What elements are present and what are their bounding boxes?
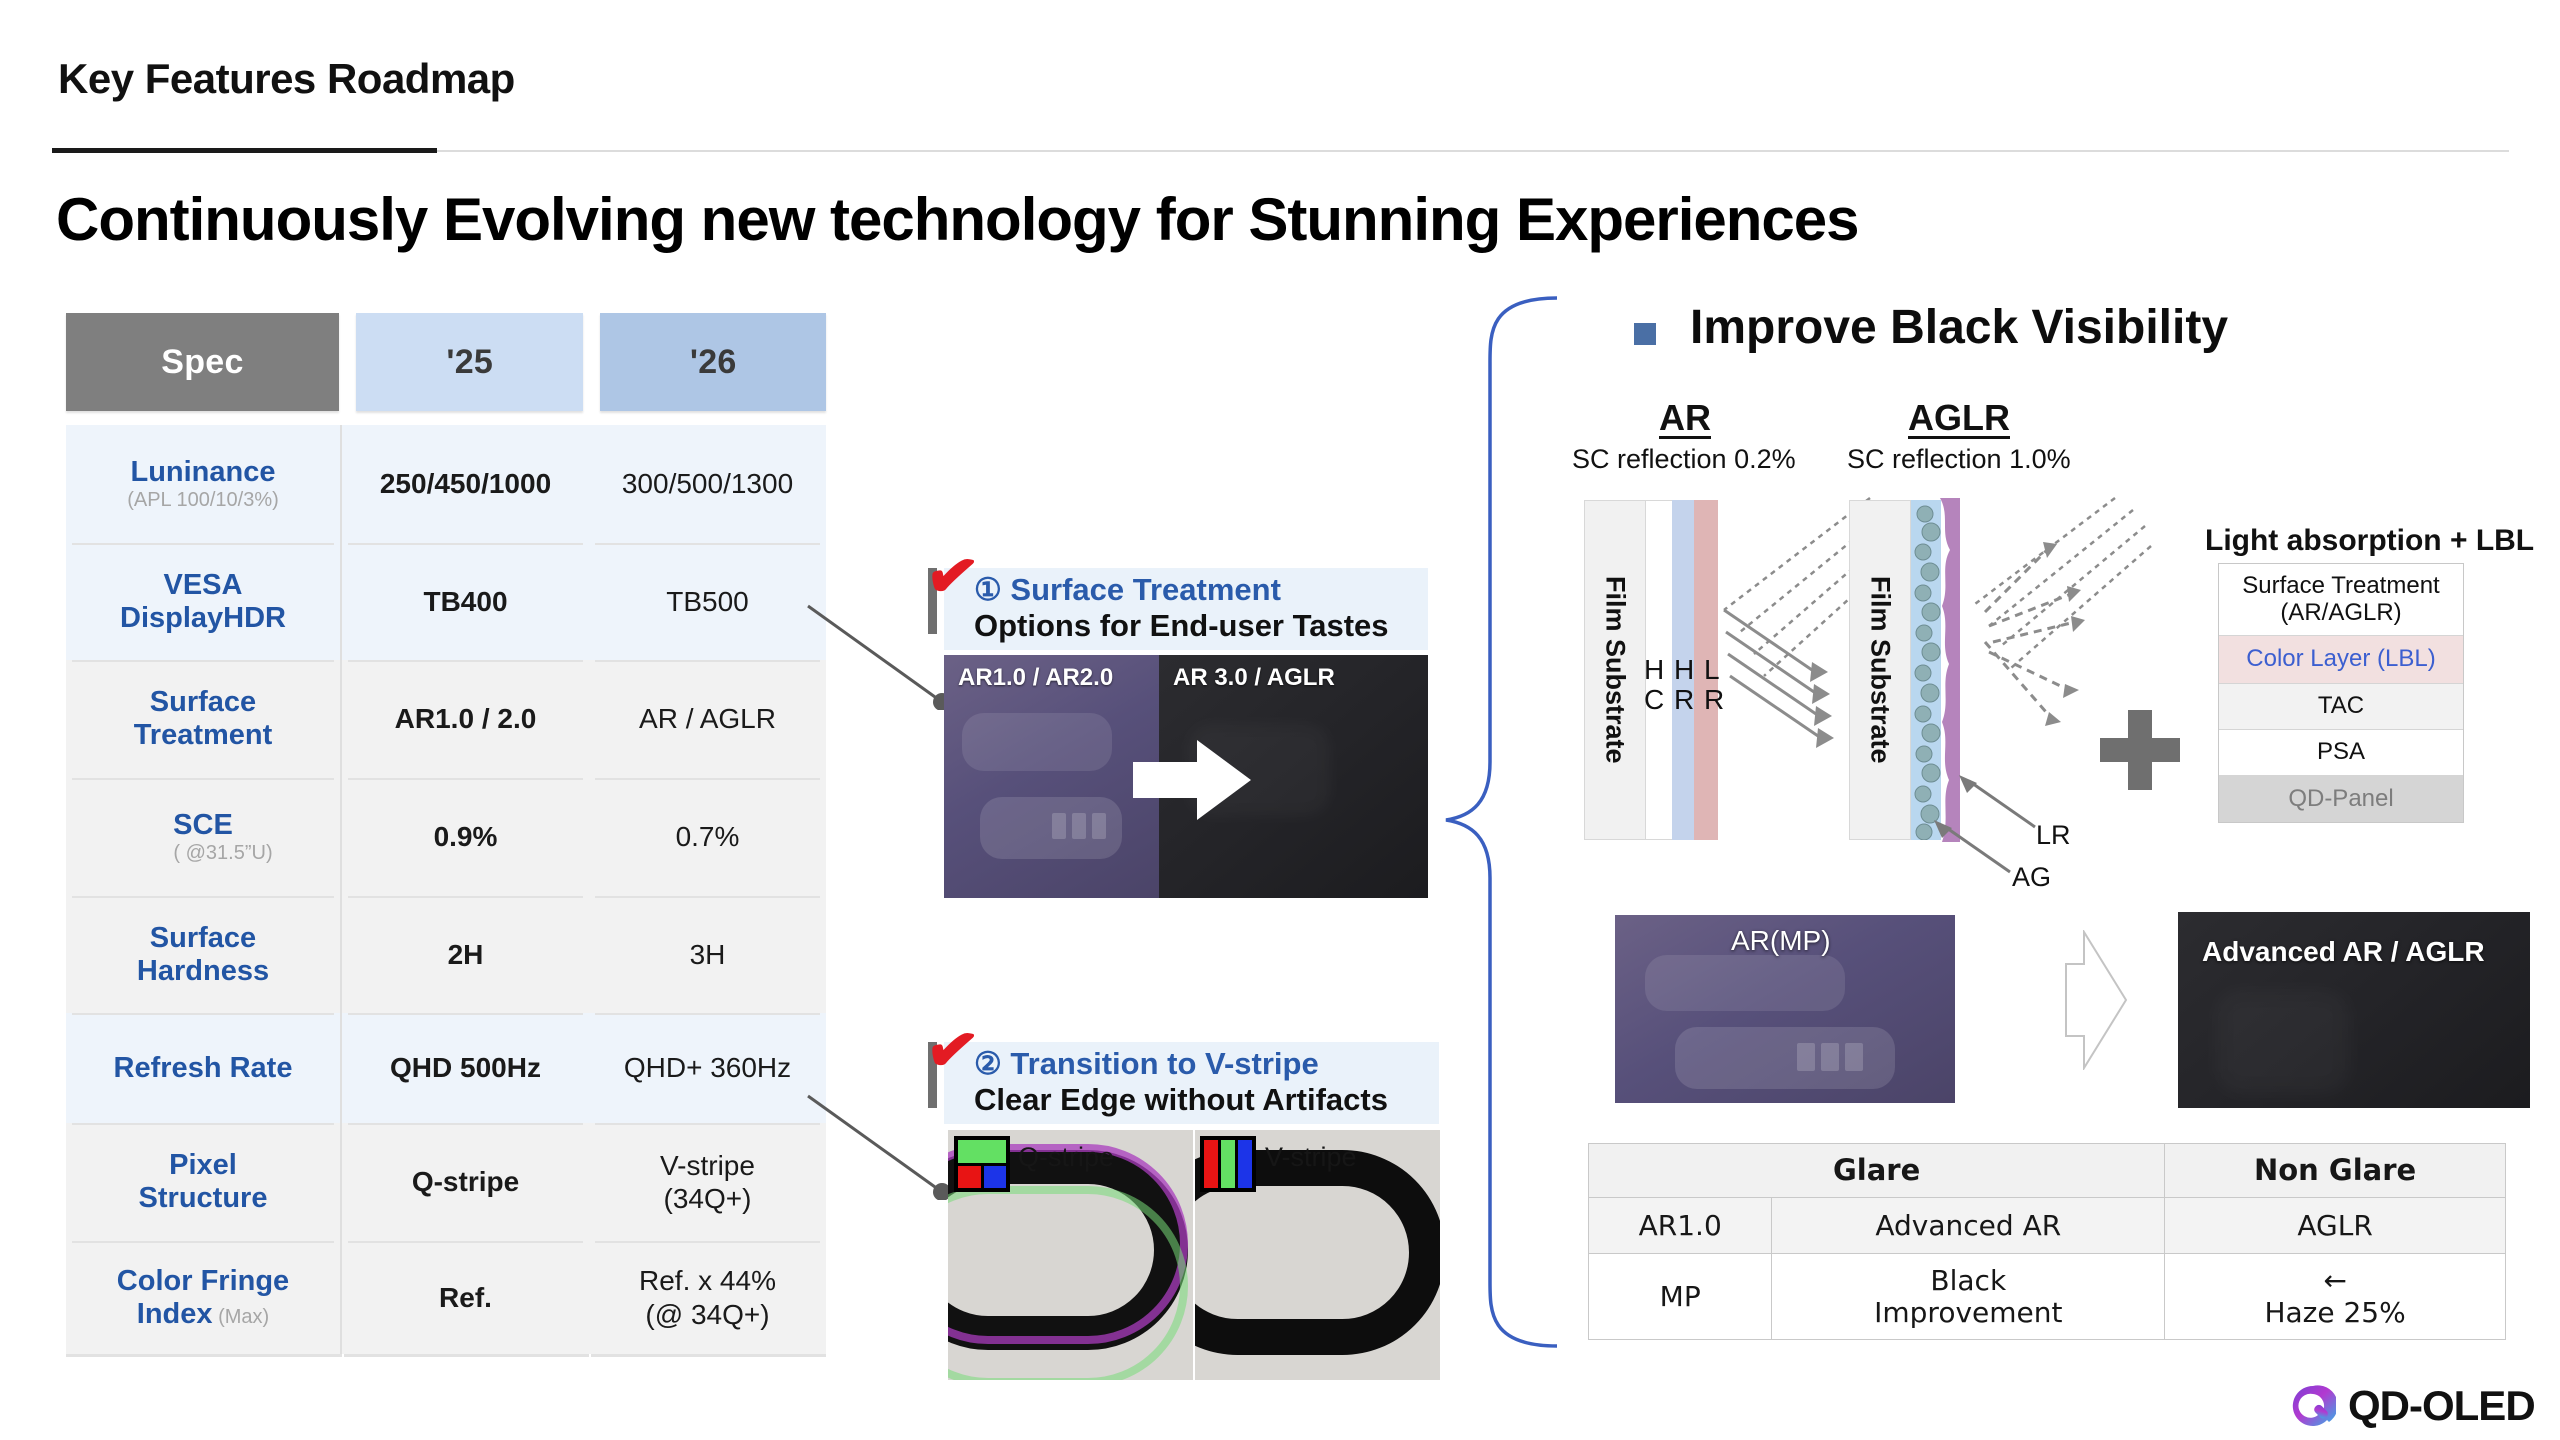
compare-photo-ar-mp-label: AR(MP)	[1731, 925, 1831, 957]
value-26-cell: 300/500/1300	[589, 425, 826, 543]
glare-header: Glare	[1589, 1144, 2165, 1198]
value-25-cell: 0.9%	[342, 778, 589, 896]
ar-heading: AR	[1659, 397, 1711, 439]
header-rule-light	[437, 150, 2509, 152]
value-26: V-stripe	[660, 1149, 755, 1182]
table-row: SCE( @31.5”U)0.9%0.7%	[66, 778, 826, 896]
callout2-title: ② Transition to V-stripe	[974, 1046, 1425, 1082]
value-26: 3H	[690, 938, 726, 971]
callout1-header: ① Surface Treatment Options for End-user…	[944, 568, 1428, 650]
spec-table-header-row: Spec '25 '26	[66, 313, 826, 411]
table-row: PixelStructureQ-stripeV-stripe(34Q+)	[66, 1123, 826, 1241]
spec-table-bottom-edge	[66, 1354, 826, 1357]
value-25-cell: QHD 500Hz	[342, 1013, 589, 1123]
value-25: QHD 500Hz	[390, 1052, 541, 1084]
ar-sc-reflection: SC reflection 0.2%	[1572, 444, 1796, 475]
callout1-title: ① Surface Treatment	[974, 572, 1414, 608]
stack-title: Light absorption + LBL	[2205, 524, 2534, 558]
section-bullet-icon	[1634, 323, 1656, 345]
table-row: VESADisplayHDRTB400TB500	[66, 543, 826, 660]
compare-photo-advanced-label: Advanced AR / AGLR	[2202, 936, 2485, 968]
callout2-header: ② Transition to V-stripe Clear Edge with…	[944, 1042, 1439, 1124]
compare-arrow-icon	[2060, 930, 2130, 1070]
value-25: 250/450/1000	[380, 468, 551, 500]
glare-table-row: AR1.0Advanced ARAGLR	[1589, 1198, 2506, 1254]
compare-photo-advanced-ar-aglr: Advanced AR / AGLR	[2178, 912, 2530, 1108]
glare-table-cell: MP	[1589, 1254, 1772, 1340]
value-25: AR1.0 / 2.0	[395, 703, 537, 735]
glare-table-cell: ←Haze 25%	[2165, 1254, 2506, 1340]
spec-label: SCE	[173, 809, 233, 842]
value-26: QHD+ 360Hz	[624, 1051, 791, 1084]
table-row: Color FringeIndex (Max)Ref.Ref. x 44%(@ …	[66, 1241, 826, 1354]
spec-label: Color FringeIndex (Max)	[117, 1265, 289, 1331]
glare-table-cell: AR1.0	[1589, 1198, 1772, 1254]
v-stripe-label: V-stripe	[1265, 1142, 1357, 1173]
table-row: Refresh RateQHD 500HzQHD+ 360Hz	[66, 1013, 826, 1123]
spec-label-cell: PixelStructure	[66, 1123, 342, 1241]
value-25-cell: 2H	[342, 896, 589, 1013]
spec-table-body: Luninance(APL 100/10/3%)250/450/1000300/…	[66, 425, 826, 1354]
table-row: Luninance(APL 100/10/3%)250/450/1000300/…	[66, 425, 826, 543]
qd-oled-logo-text: QD-OLED	[2348, 1382, 2535, 1430]
spec-label-cell: Color FringeIndex (Max)	[66, 1241, 342, 1354]
value-26: 0.7%	[676, 820, 740, 853]
column-header-spec: Spec	[66, 313, 339, 411]
spec-label: SurfaceTreatment	[134, 686, 273, 752]
q-stripe-pixel-icon	[954, 1136, 1010, 1192]
spec-label: Refresh Rate	[114, 1052, 293, 1085]
spec-label-cell: SurfaceHardness	[66, 896, 342, 1013]
spec-label-cell: Refresh Rate	[66, 1013, 342, 1123]
glare-table-cell: Advanced AR	[1772, 1198, 2165, 1254]
lr-label: LR	[2036, 820, 2071, 851]
value-26-sub: (34Q+)	[664, 1182, 752, 1215]
stack-layer: TAC	[2219, 684, 2463, 730]
value-26: TB500	[666, 585, 749, 618]
value-25: Q-stripe	[412, 1166, 519, 1198]
layer-stack: Surface Treatment(AR/AGLR)Color Layer (L…	[2218, 563, 2464, 823]
plus-icon	[2100, 710, 2180, 790]
photo-ar3-aglr-label: AR 3.0 / AGLR	[1173, 664, 1335, 692]
compare-photo-ar-mp: AR(MP)	[1615, 915, 1955, 1103]
glare-table: GlareNon GlareAR1.0Advanced ARAGLRMPBlac…	[1588, 1143, 2506, 1340]
glare-table-cell: BlackImprovement	[1772, 1254, 2165, 1340]
check-mark-icon-2: ✔	[922, 1017, 982, 1086]
ag-callout-arrow-icon	[1930, 820, 2020, 880]
callout2-subtitle: Clear Edge without Artifacts	[974, 1082, 1425, 1118]
v-stripe-pixel-icon	[1200, 1136, 1256, 1192]
value-25: 0.9%	[434, 821, 498, 853]
spec-sublabel: ( @31.5”U)	[173, 842, 272, 865]
spec-label: Luninance	[130, 456, 275, 489]
glare-table-row: MPBlackImprovement←Haze 25%	[1589, 1254, 2506, 1340]
qd-oled-logo: QD-OLED	[2290, 1382, 2535, 1430]
stack-layer: Surface Treatment(AR/AGLR)	[2219, 564, 2463, 636]
spec-label: SurfaceHardness	[137, 922, 269, 988]
non-glare-header: Non Glare	[2165, 1144, 2506, 1198]
spec-label: PixelStructure	[139, 1149, 268, 1215]
aglr-bead-texture-icon	[1911, 500, 1941, 840]
value-26: AR / AGLR	[639, 702, 776, 735]
aglr-film-substrate-label: Film Substrate	[1849, 500, 1911, 840]
value-25: 2H	[448, 939, 484, 971]
spec-label-cell: VESADisplayHDR	[66, 543, 342, 660]
header-rule-dark	[52, 148, 437, 153]
leader-line-1	[770, 590, 950, 710]
stack-layer: PSA	[2219, 730, 2463, 776]
aglr-heading: AGLR	[1908, 397, 2010, 439]
value-25: Ref.	[439, 1282, 492, 1314]
ar-film-substrate-label: Film Substrate	[1584, 500, 1646, 840]
glare-table-cell: AGLR	[2165, 1198, 2506, 1254]
column-header-26: '26	[600, 313, 826, 411]
value-25-cell: 250/450/1000	[342, 425, 589, 543]
spec-sublabel: (APL 100/10/3%)	[127, 489, 279, 512]
value-25-cell: Ref.	[342, 1241, 589, 1354]
spec-label-cell: SurfaceTreatment	[66, 660, 342, 778]
value-26: 300/500/1300	[622, 467, 793, 500]
value-26-cell: 0.7%	[589, 778, 826, 896]
table-row: SurfaceHardness2H3H	[66, 896, 826, 1013]
value-25: TB400	[423, 586, 507, 618]
section-brace	[1432, 292, 1572, 1352]
check-mark-icon-1: ✔	[922, 543, 982, 612]
page-kicker: Key Features Roadmap	[58, 55, 515, 103]
value-25-cell: Q-stripe	[342, 1123, 589, 1241]
spec-table: Spec '25 '26 Luninance(APL 100/10/3%)250…	[66, 313, 826, 1357]
q-stripe-label: Q-stripe	[1018, 1142, 1114, 1173]
stack-layer: Color Layer (LBL)	[2219, 636, 2463, 684]
column-header-25: '25	[356, 313, 584, 411]
leader-line-2	[770, 1080, 950, 1200]
photo-ar1-ar2: AR1.0 / AR2.0	[944, 655, 1159, 898]
value-26-cell: Ref. x 44%(@ 34Q+)	[589, 1241, 826, 1354]
spec-label-cell: Luninance(APL 100/10/3%)	[66, 425, 342, 543]
slide-root: Key Features Roadmap Continuously Evolvi…	[0, 0, 2560, 1440]
callout1-subtitle: Options for End-user Tastes	[974, 608, 1414, 644]
photo-ar1-ar2-label: AR1.0 / AR2.0	[958, 664, 1113, 692]
qd-oled-mark-icon	[2290, 1383, 2336, 1429]
value-26-cell: 3H	[589, 896, 826, 1013]
value-26: Ref. x 44%	[639, 1264, 776, 1297]
spec-sublabel: (Max)	[213, 1306, 270, 1328]
page-title: Continuously Evolving new technology for…	[56, 185, 1859, 254]
section-title-black-visibility: Improve Black Visibility	[1690, 300, 2228, 355]
spec-label-cell: SCE( @31.5”U)	[66, 778, 342, 896]
value-26-sub: (@ 34Q+)	[645, 1298, 769, 1331]
spec-label: VESADisplayHDR	[120, 569, 286, 635]
table-row: SurfaceTreatmentAR1.0 / 2.0AR / AGLR	[66, 660, 826, 778]
ag-label: AG	[2012, 862, 2051, 893]
aglr-sc-reflection: SC reflection 1.0%	[1847, 444, 2071, 475]
value-25-cell: AR1.0 / 2.0	[342, 660, 589, 778]
transition-arrow-icon	[1133, 740, 1253, 820]
value-25-cell: TB400	[342, 543, 589, 660]
stack-layer: QD-Panel	[2219, 776, 2463, 822]
glare-table-header-row: GlareNon Glare	[1589, 1144, 2506, 1198]
